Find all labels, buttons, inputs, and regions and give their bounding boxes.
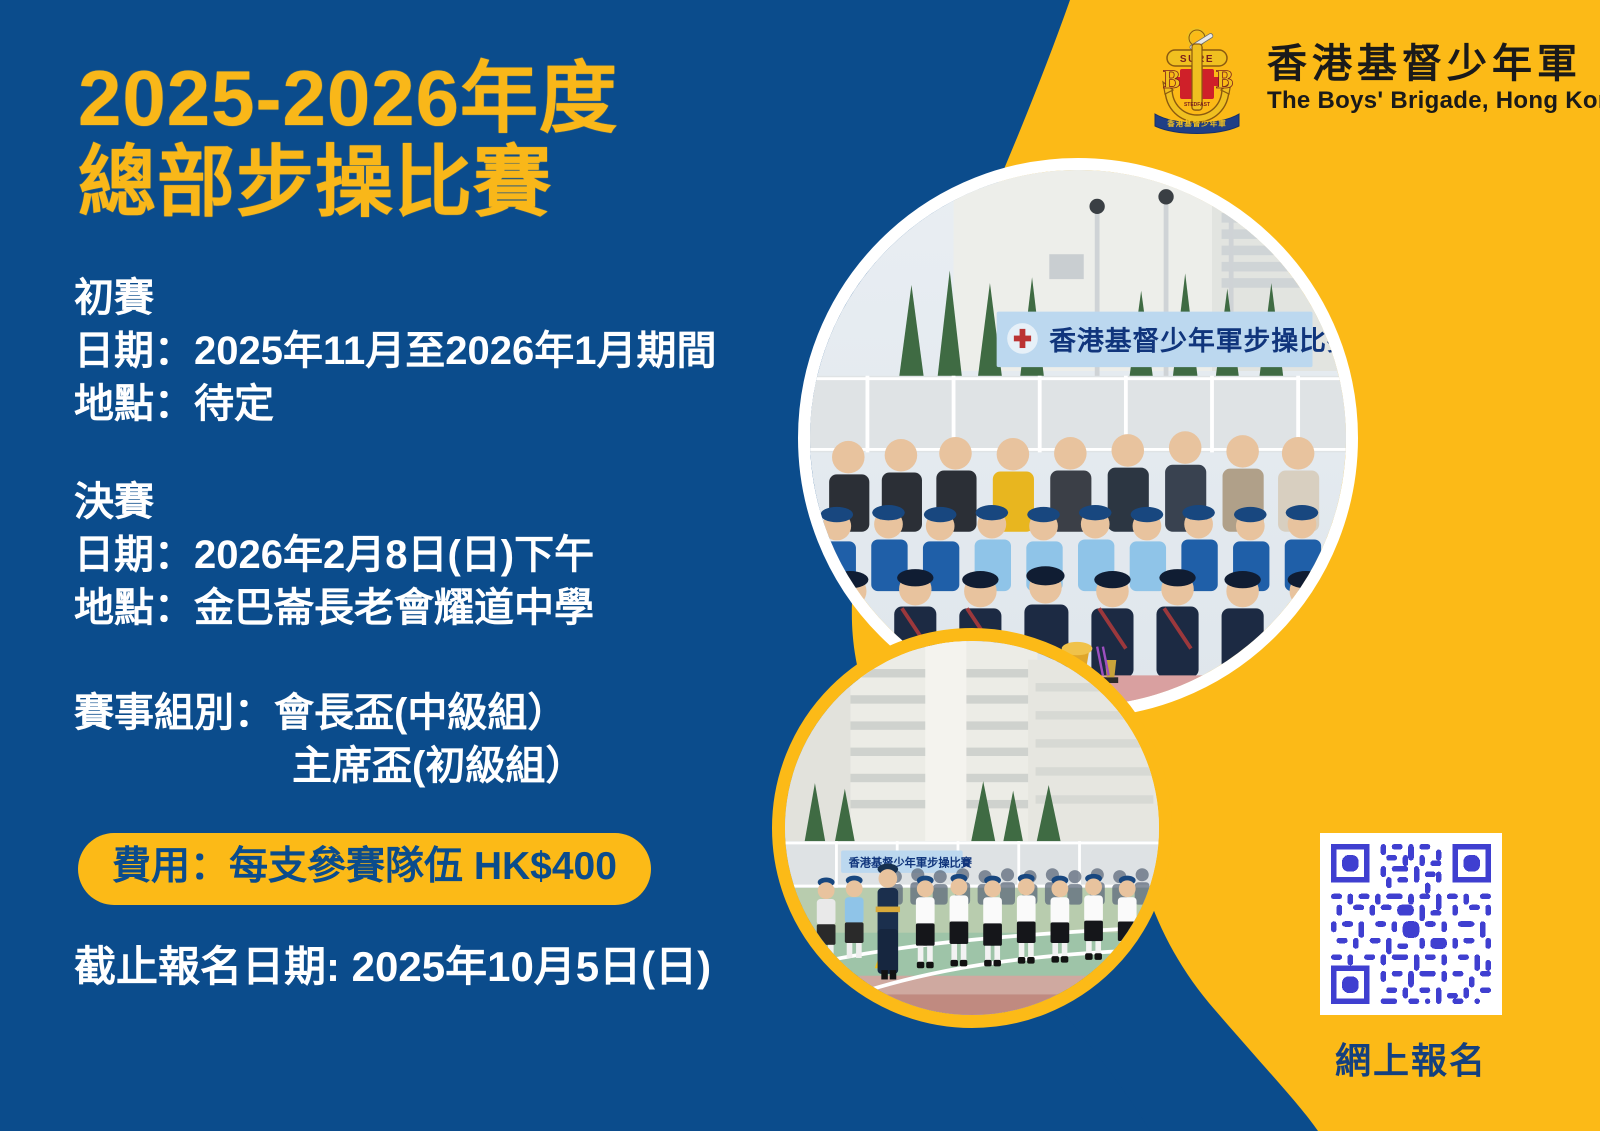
poster-root: SURE B B STEDFAST 香港基督少年軍 香港基督少年軍 The Bo… [0,0,1600,1131]
poster-headline: 2025-2026年度 總部步操比賽 [78,56,618,224]
final-heading: 決賽 [74,476,864,529]
final-date: 日期：2026年2月8日(日)下午 [74,529,864,582]
qr-code-icon[interactable] [1320,833,1502,1015]
final-round-block: 決賽 日期：2026年2月8日(日)下午 地點：金巴崙長老會耀道中學 [74,476,864,634]
headline-line-2: 總部步操比賽 [78,140,618,224]
category-senior: 賽事組別：會長盃(中級組） [74,687,864,741]
bb-anchor-crest-logo-icon: SURE B B STEDFAST 香港基督少年軍 [1145,22,1249,134]
svg-text:香港基督少年軍步操比賽: 香港基督少年軍步操比賽 [848,855,973,869]
svg-text:B: B [1163,65,1180,94]
qr-code-label: 網上報名 [1320,1032,1502,1084]
preliminary-heading: 初賽 [74,272,864,325]
organization-name-en: The Boys' Brigade, Hong Kong [1267,89,1600,113]
competition-categories: 賽事組別：會長盃(中級組） 主席盃(初級組） [74,687,864,794]
organization-name: 香港基督少年軍 The Boys' Brigade, Hong Kong [1267,44,1600,113]
registration-deadline: 截止報名日期: 2025年10月5日(日) [74,942,711,992]
online-registration[interactable]: 網上報名 [1320,833,1502,1084]
group-photo-with-banner: 香港基督少年軍步操比賽 [798,158,1358,718]
section-spacer [74,430,864,476]
preliminary-round-block: 初賽 日期：2025年11月至2026年1月期間 地點：待定 [74,272,864,430]
fee-badge: 費用：每支參賽隊伍 HK$400 [78,833,651,905]
group-photo-illustration: 香港基督少年軍步操比賽 [810,170,1346,706]
headline-line-1: 2025-2026年度 [78,56,618,140]
final-venue: 地點：金巴崙長老會耀道中學 [74,582,864,635]
svg-text:STEDFAST: STEDFAST [1184,102,1210,108]
svg-text:香港基督少年軍步操比賽: 香港基督少年軍步操比賽 [1049,325,1346,356]
category-junior: 主席盃(初級組） [74,740,864,794]
preliminary-date: 日期：2025年11月至2026年1月期間 [74,325,864,378]
preliminary-venue: 地點：待定 [74,378,864,431]
svg-text:香港基督少年軍: 香港基督少年軍 [1166,118,1227,128]
svg-text:B: B [1216,65,1233,94]
organization-name-cn: 香港基督少年軍 [1267,44,1600,84]
qr-code-card[interactable] [1320,833,1502,1015]
organization-logo: SURE B B STEDFAST 香港基督少年軍 香港基督少年軍 The Bo… [1145,22,1600,134]
event-details: 初賽 日期：2025年11月至2026年1月期間 地點：待定 決賽 日期：202… [74,272,864,794]
